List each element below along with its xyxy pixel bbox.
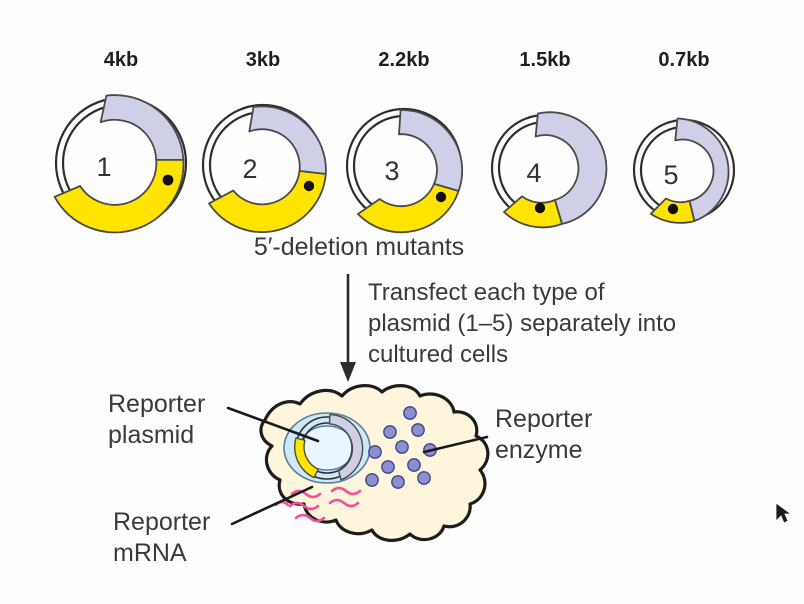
enzyme-dot (412, 424, 424, 436)
plasmid-group-1[interactable]: 4kb 1 (55, 49, 186, 232)
plasmid-junction-dot-3 (436, 192, 446, 202)
plasmid-size-label-2: 3kb (246, 49, 280, 71)
figure-canvas: 4kb 1 3kb 2 2.2kb (0, 0, 804, 604)
enzyme-dot (408, 459, 420, 471)
plasmid-lavender-arc-2 (249, 106, 326, 174)
step-arrow-head-icon (340, 362, 356, 382)
step-line-2: plasmid (1–5) separately into (368, 310, 676, 337)
plasmid-number-1: 1 (96, 152, 111, 182)
enzyme-dot (404, 407, 416, 419)
plasmid-number-5: 5 (663, 160, 678, 190)
diagram-svg: 4kb 1 3kb 2 2.2kb (0, 0, 804, 604)
enzyme-dot (369, 446, 381, 458)
callout-reporter-enzyme-line-2: enzyme (495, 436, 583, 464)
callout-reporter-enzyme-line-1: Reporter (495, 405, 592, 433)
callout-reporter-plasmid-line-1: Reporter (108, 390, 205, 418)
mouse-cursor-icon (776, 503, 791, 523)
enzyme-dot (418, 472, 430, 484)
plasmid-lavender-arc-1 (101, 95, 184, 160)
plasmid-size-label-5: 0.7kb (658, 49, 709, 71)
step-line-1: Transfect each type of (368, 279, 605, 306)
plasmid-yellow-arc-1 (55, 160, 184, 233)
plasmid-row: 4kb 1 3kb 2 2.2kb (55, 49, 734, 261)
cell-panel: Reporter plasmid Reporter enzyme Reporte… (108, 386, 592, 567)
plasmid-junction-dot-5 (668, 204, 678, 214)
plasmid-size-label-3: 2.2kb (378, 49, 429, 71)
plasmid-junction-dot-4 (535, 203, 545, 213)
callout-reporter-enzyme: Reporter enzyme (495, 405, 592, 464)
callout-reporter-mrna-line-1: Reporter (113, 508, 210, 536)
plasmid-yellow-arc-2 (209, 171, 326, 232)
callout-reporter-plasmid: Reporter plasmid (108, 390, 205, 449)
plasmid-group-3[interactable]: 2.2kb 3 (347, 49, 462, 232)
enzyme-dot (382, 461, 394, 473)
enzyme-dot (392, 476, 404, 488)
plasmid-group-5[interactable]: 0.7kb 5 (634, 49, 734, 223)
plasmid-yellow-arc-3 (358, 184, 459, 232)
plasmid-junction-dot-1 (163, 175, 174, 186)
callout-reporter-mrna: Reporter mRNA (113, 508, 210, 567)
plasmid-number-3: 3 (384, 156, 399, 186)
enzyme-dot (366, 474, 378, 486)
plasmid-size-label-4: 1.5kb (519, 49, 570, 71)
transfection-step: Transfect each type of plasmid (1–5) sep… (340, 274, 676, 382)
enzyme-dot (396, 441, 408, 453)
plasmid-number-2: 2 (242, 154, 257, 184)
plasmid-row-caption: 5′-deletion mutants (254, 233, 464, 261)
plasmid-group-4[interactable]: 1.5kb 4 (492, 49, 606, 227)
step-line-3: cultured cells (368, 341, 508, 368)
plasmid-number-4: 4 (526, 158, 541, 188)
callout-reporter-plasmid-line-2: plasmid (108, 421, 194, 449)
plasmid-junction-dot-2 (304, 181, 314, 191)
plasmid-size-label-1: 4kb (104, 49, 138, 71)
enzyme-dot (384, 426, 396, 438)
callout-reporter-mrna-line-2: mRNA (113, 539, 187, 567)
plasmid-lavender-arc-3 (399, 110, 462, 191)
plasmid-group-2[interactable]: 3kb 2 (203, 49, 326, 232)
